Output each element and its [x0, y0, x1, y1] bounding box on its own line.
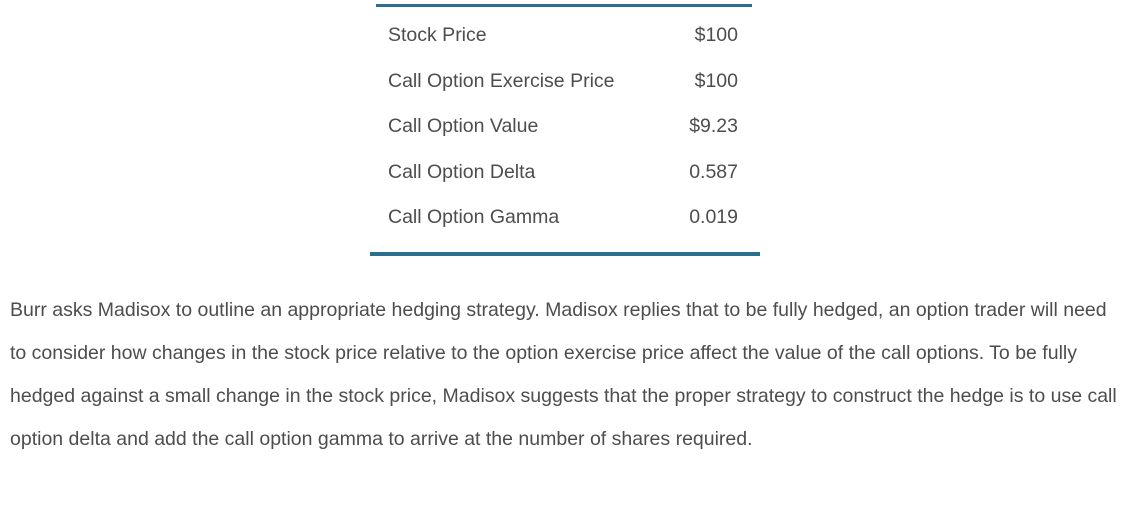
row-value: 0.587 [672, 150, 760, 196]
row-value: $9.23 [672, 104, 760, 150]
row-value: $100 [672, 13, 760, 59]
row-value: 0.019 [672, 195, 760, 241]
row-value: $100 [672, 59, 760, 105]
table-row: Call Option Value $9.23 [370, 104, 760, 150]
table-bottom-rule [370, 252, 760, 256]
row-label: Call Option Value [370, 104, 672, 150]
table-top-rule [376, 4, 752, 7]
row-label: Call Option Delta [370, 150, 672, 196]
table-row: Call Option Gamma 0.019 [370, 195, 760, 241]
option-data-table: Stock Price $100 Call Option Exercise Pr… [370, 13, 760, 241]
table-row: Call Option Delta 0.587 [370, 150, 760, 196]
table-row: Call Option Exercise Price $100 [370, 59, 760, 105]
row-label: Call Option Exercise Price [370, 59, 672, 105]
table-row: Stock Price $100 [370, 13, 760, 59]
row-label: Call Option Gamma [370, 195, 672, 241]
table-body: Stock Price $100 Call Option Exercise Pr… [370, 13, 760, 241]
vignette-paragraph: Burr asks Madisox to outline an appropri… [10, 289, 1128, 461]
row-label: Stock Price [370, 13, 672, 59]
